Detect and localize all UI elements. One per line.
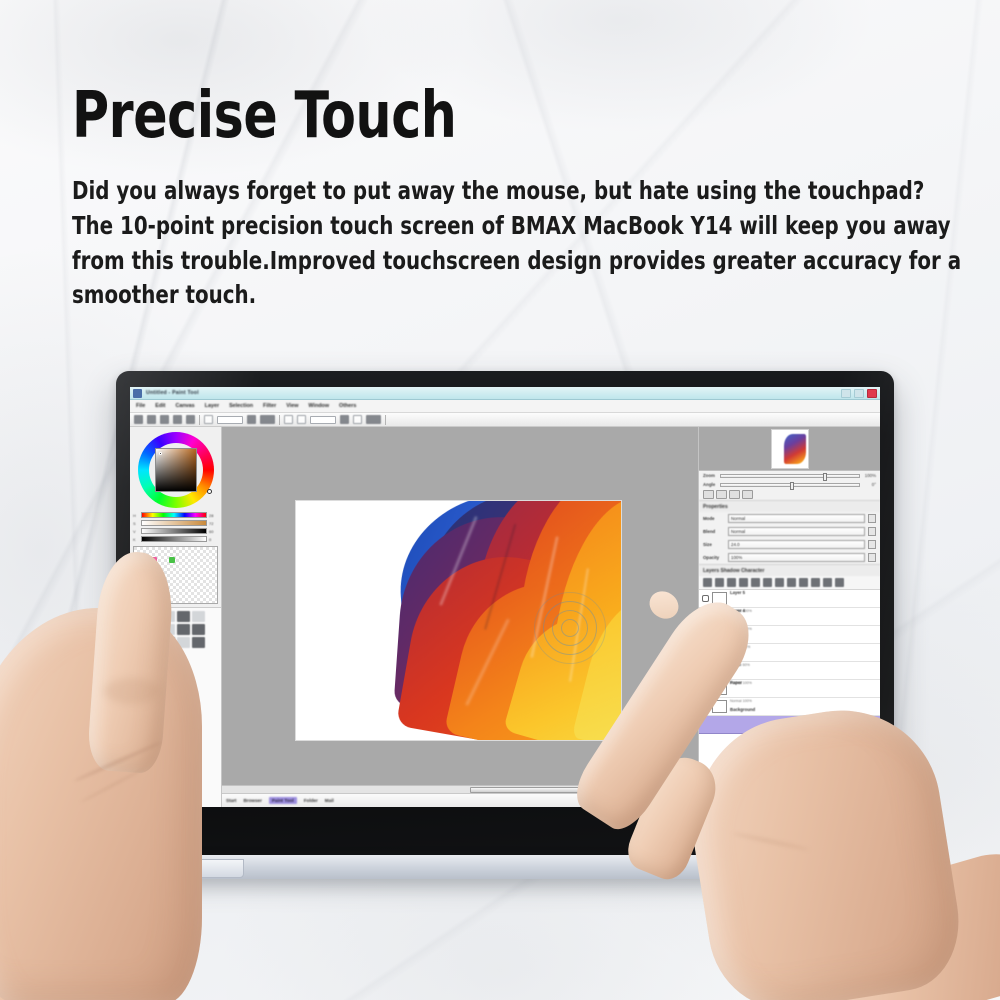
color-wheel-container[interactable] xyxy=(130,427,221,511)
gray-slider-value: 0 xyxy=(209,537,218,542)
table-row-selected[interactable] xyxy=(699,716,880,734)
zoom-slider-row[interactable]: Zoom 100% xyxy=(699,471,880,480)
layer-name: Layer 4 xyxy=(730,608,745,613)
app-document-icon xyxy=(133,389,142,398)
zoom-slider-knob[interactable] xyxy=(823,473,827,481)
zoom-out-icon[interactable] xyxy=(247,415,256,424)
value-slider[interactable] xyxy=(141,528,207,534)
layer-tool-buttons[interactable] xyxy=(699,576,880,590)
menu-item-filter[interactable]: Filter xyxy=(263,403,276,409)
navigator-thumbnail[interactable] xyxy=(771,429,809,469)
saturation-slider-label: S xyxy=(133,521,139,526)
layer-thumbnail[interactable] xyxy=(712,592,727,605)
zoom-in-icon[interactable] xyxy=(204,415,213,424)
size-stepper[interactable] xyxy=(868,540,876,549)
brush-icon[interactable] xyxy=(147,611,160,622)
layer-thumbnail[interactable] xyxy=(712,664,727,677)
hue-cursor[interactable] xyxy=(207,489,212,494)
table-row[interactable]: Layer 3 Multiply 85% xyxy=(699,626,880,644)
value-slider-value: 60 xyxy=(209,529,218,534)
window-title-bar[interactable]: Untitled - Paint Tool xyxy=(130,387,880,400)
gray-slider-row[interactable]: K 0 xyxy=(130,535,221,543)
table-row[interactable]: Background xyxy=(699,698,880,716)
rotate-tool-icon[interactable] xyxy=(192,637,205,648)
flip-horizontal-icon[interactable] xyxy=(284,415,293,424)
redo-icon[interactable] xyxy=(186,415,195,424)
saturation-slider-row[interactable]: S 72 xyxy=(130,519,221,527)
zoom-slider-label: Zoom xyxy=(703,473,717,478)
angle-slider-label: Angle xyxy=(703,482,717,487)
canvas-h-scrollbar[interactable] xyxy=(222,785,698,793)
new-icon[interactable] xyxy=(134,415,143,424)
menu-bar[interactable]: File Edit Canvas Layer Selection Filter … xyxy=(130,400,880,413)
opacity-input[interactable]: 100% xyxy=(728,553,865,562)
layer-thumbnail[interactable] xyxy=(712,682,727,695)
fullscreen-icon[interactable] xyxy=(353,415,362,424)
layer-name: Layer 5 xyxy=(730,590,745,595)
left-color-palette[interactable]: H 28 S 72 V 60 K xyxy=(130,427,222,807)
menu-item-file[interactable]: File xyxy=(136,403,145,409)
window-title: Untitled - Paint Tool xyxy=(146,390,841,396)
tool-bar[interactable] xyxy=(130,413,880,427)
layer-thumbnail[interactable] xyxy=(712,646,727,659)
work-area: H 28 S 72 V 60 K xyxy=(130,427,880,807)
color-wheel[interactable] xyxy=(138,432,214,508)
fit-screen-button[interactable] xyxy=(742,490,753,499)
magic-wand-icon[interactable] xyxy=(177,624,190,635)
menu-item-window[interactable]: Window xyxy=(308,403,329,409)
taskbar-item-mail[interactable]: Mail xyxy=(325,798,334,803)
laptop-device: Untitled - Paint Tool File Edit Canvas L… xyxy=(108,371,898,891)
layer-blend-info: Normal 100% xyxy=(730,699,752,703)
layer-visibility-icon[interactable] xyxy=(702,667,709,674)
delete-icon[interactable] xyxy=(775,578,784,587)
swatch-3[interactable] xyxy=(169,557,175,563)
grid-icon[interactable] xyxy=(340,415,349,424)
size-field-label: Size xyxy=(703,542,725,547)
swatch-1[interactable] xyxy=(139,557,145,563)
rotate-canvas-button[interactable] xyxy=(716,490,727,499)
mode-field-label: Mode xyxy=(703,516,725,521)
eyedropper-icon[interactable] xyxy=(147,637,160,648)
toolbar-divider xyxy=(199,415,200,425)
save-icon[interactable] xyxy=(160,415,169,424)
move-up-icon[interactable] xyxy=(787,578,796,587)
layer-name: Base xyxy=(730,662,740,667)
layer-name: Layer 3 xyxy=(730,626,745,631)
opacity-field-label: Opacity xyxy=(703,555,725,560)
hue-slider-value: 28 xyxy=(209,513,218,518)
layer-visibility-icon[interactable] xyxy=(702,703,709,710)
zoom-level-field[interactable] xyxy=(217,416,243,424)
selection-icon[interactable] xyxy=(147,624,160,635)
zoom-icon[interactable] xyxy=(177,637,190,648)
gray-slider[interactable] xyxy=(141,536,207,542)
zoom-slider-value: 100% xyxy=(863,473,876,478)
undo-icon[interactable] xyxy=(173,415,182,424)
settings-icon[interactable] xyxy=(835,578,844,587)
flip-canvas-button[interactable] xyxy=(703,490,714,499)
saturation-slider-value: 72 xyxy=(209,521,218,526)
laptop-hinge-foot xyxy=(170,859,244,878)
value-slider-row[interactable]: V 60 xyxy=(130,527,221,535)
pencil-icon[interactable] xyxy=(132,611,145,622)
airbrush-icon[interactable] xyxy=(162,611,175,622)
angle-slider-value: 0° xyxy=(863,482,876,487)
taskbar[interactable]: Start Browser Paint Tool Folder Mail xyxy=(222,793,698,807)
layer-name: Paper xyxy=(730,680,742,685)
size-input[interactable]: 24.0 xyxy=(728,540,865,549)
window-controls[interactable] xyxy=(841,389,877,398)
laptop-bottom-bezel xyxy=(130,807,880,855)
blend-field-row[interactable]: Blend Normal xyxy=(699,525,880,538)
zoom-slider-track[interactable] xyxy=(720,474,860,478)
duplicate-icon[interactable] xyxy=(727,578,736,587)
blend-dropdown-arrow-icon[interactable] xyxy=(868,527,876,536)
laptop-screen[interactable]: Untitled - Paint Tool File Edit Canvas L… xyxy=(130,387,880,807)
minimize-button[interactable] xyxy=(841,389,851,398)
power-led-indicator xyxy=(174,827,180,836)
table-row[interactable]: Layer 5 Normal 100% xyxy=(699,590,880,608)
saturation-value-square[interactable] xyxy=(155,448,197,492)
right-panel[interactable]: Zoom 100% Angle 0° xyxy=(698,427,880,807)
merge-icon[interactable] xyxy=(739,578,748,587)
page-title: Precise Touch xyxy=(72,84,855,148)
layer-thumbnail[interactable] xyxy=(712,610,727,623)
taskbar-item-folder[interactable]: Folder xyxy=(304,798,318,803)
clip-icon[interactable] xyxy=(763,578,772,587)
sv-cursor[interactable] xyxy=(159,452,162,455)
watercolor-icon[interactable] xyxy=(177,611,190,622)
taskbar-item-paint-tool[interactable]: Paint Tool xyxy=(269,797,297,804)
hue-slider[interactable] xyxy=(141,512,207,518)
new-folder-icon[interactable] xyxy=(715,578,724,587)
layer-thumbnail[interactable] xyxy=(712,628,727,641)
hand-icon[interactable] xyxy=(162,637,175,648)
mode-select[interactable]: Normal xyxy=(728,514,865,523)
mask-icon[interactable] xyxy=(751,578,760,587)
bucket-icon[interactable] xyxy=(192,624,205,635)
artboard[interactable] xyxy=(296,501,621,740)
new-layer-icon[interactable] xyxy=(703,578,712,587)
table-row[interactable]: Layer 4 Normal 100% xyxy=(699,608,880,626)
layer-thumbnail[interactable] xyxy=(712,700,727,713)
canvas-workspace[interactable]: Start Browser Paint Tool Folder Mail xyxy=(222,427,698,807)
layer-visibility-icon[interactable] xyxy=(702,685,709,692)
table-row[interactable]: Sketch Normal 60% xyxy=(699,644,880,662)
navigator-panel[interactable] xyxy=(699,427,880,471)
menu-item-selection[interactable]: Selection xyxy=(229,403,253,409)
menu-item-view[interactable]: View xyxy=(286,403,298,409)
layer-name: Sketch xyxy=(730,644,744,649)
gray-slider-label: K xyxy=(133,537,139,542)
hue-slider-label: H xyxy=(133,513,139,518)
layer-visibility-icon[interactable] xyxy=(702,649,709,656)
page-description: Did you always forget to put away the mo… xyxy=(72,174,972,313)
swatch-panel[interactable] xyxy=(133,546,218,604)
table-row[interactable]: Base Normal 100% xyxy=(699,662,880,680)
taskbar-item-start[interactable]: Start xyxy=(226,798,236,803)
blend-field-label: Blend xyxy=(703,529,725,534)
table-row[interactable]: Paper Normal 100% xyxy=(699,680,880,698)
layer-visibility-icon[interactable] xyxy=(702,631,709,638)
tool-strip[interactable] xyxy=(130,607,221,807)
lock-icon[interactable] xyxy=(811,578,820,587)
preview-icon[interactable] xyxy=(366,415,381,424)
rainbow-paint-stroke-artwork xyxy=(296,501,621,740)
value-slider-label: V xyxy=(133,529,139,534)
hue-slider-row[interactable]: H 28 xyxy=(130,511,221,519)
rotate-icon[interactable] xyxy=(260,415,275,424)
angle-slider-row[interactable]: Angle 0° xyxy=(699,480,880,489)
layer-list[interactable]: Layer 5 Normal 100% Layer 4 Normal 100% xyxy=(699,590,880,807)
layers-panel-header: Layers Shadow Character xyxy=(699,564,880,576)
layer-visibility-icon[interactable] xyxy=(702,613,709,620)
mode-field-row[interactable]: Mode Normal xyxy=(699,512,880,525)
headline-block: Precise Touch Did you always forget to p… xyxy=(72,84,962,313)
navigator-toggle-buttons[interactable] xyxy=(699,489,880,500)
toolbar-divider-2 xyxy=(279,415,280,425)
blur-icon[interactable] xyxy=(132,650,145,661)
angle-slider-knob[interactable] xyxy=(790,482,794,490)
layer-visibility-icon[interactable] xyxy=(702,595,709,602)
opacity-stepper[interactable] xyxy=(868,553,876,562)
saturation-slider[interactable] xyxy=(141,520,207,526)
menu-item-canvas[interactable]: Canvas xyxy=(175,403,194,409)
swatch-2[interactable] xyxy=(151,557,157,563)
close-button[interactable] xyxy=(867,389,877,398)
size-field-row[interactable]: Size 24.0 xyxy=(699,538,880,551)
angle-slider-track[interactable] xyxy=(720,483,860,487)
mode-dropdown-arrow-icon[interactable] xyxy=(868,514,876,523)
menu-item-layer[interactable]: Layer xyxy=(205,403,219,409)
menu-item-others[interactable]: Others xyxy=(339,403,356,409)
gradient-icon[interactable] xyxy=(132,637,145,648)
lasso-icon[interactable] xyxy=(162,624,175,635)
toolbar-divider-3 xyxy=(385,415,386,425)
layer-name: Background xyxy=(730,707,755,712)
paint-application-window[interactable]: Untitled - Paint Tool File Edit Canvas L… xyxy=(130,387,880,807)
eraser-icon[interactable] xyxy=(132,624,145,635)
visibility-icon[interactable] xyxy=(823,578,832,587)
open-icon[interactable] xyxy=(147,415,156,424)
marker-icon[interactable] xyxy=(192,611,205,622)
move-down-icon[interactable] xyxy=(799,578,808,587)
opacity-field-row[interactable]: Opacity 100% xyxy=(699,551,880,564)
menu-item-edit[interactable]: Edit xyxy=(155,403,165,409)
angle-field[interactable] xyxy=(310,416,336,424)
maximize-button[interactable] xyxy=(854,389,864,398)
taskbar-item-browser[interactable]: Browser xyxy=(243,798,261,803)
blend-select[interactable]: Normal xyxy=(728,527,865,536)
flip-vertical-icon[interactable] xyxy=(297,415,306,424)
properties-title: Properties xyxy=(699,500,880,512)
reset-view-button[interactable] xyxy=(729,490,740,499)
